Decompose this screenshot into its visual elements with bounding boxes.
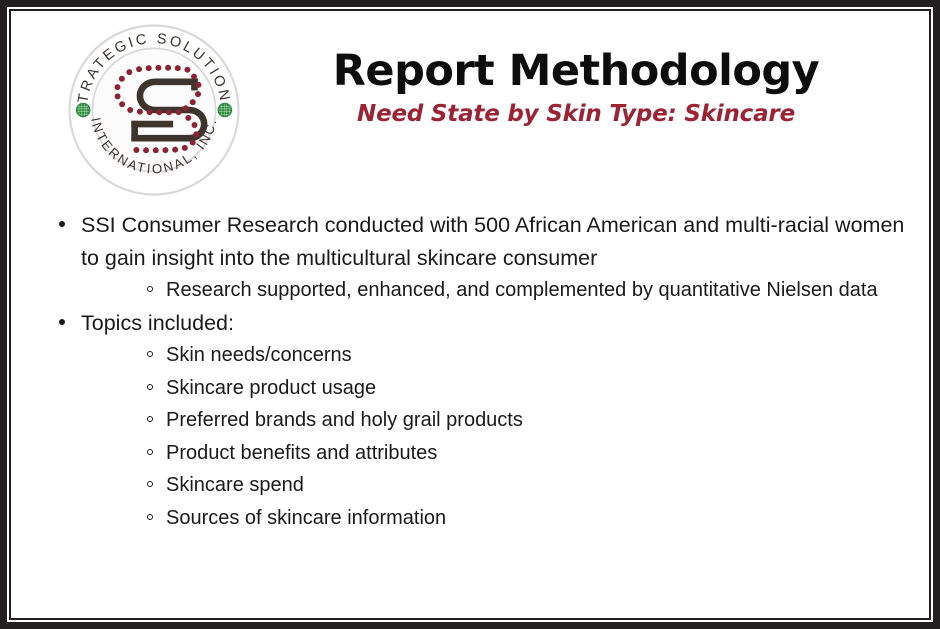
bullet-marker-circle bbox=[147, 351, 153, 357]
bullet-marker-circle bbox=[147, 449, 153, 455]
sub-bullet-item: Research supported, enhanced, and comple… bbox=[123, 274, 909, 307]
bullet-item: SSI Consumer Research conducted with 500… bbox=[37, 209, 909, 307]
slide-header: STRATEGIC SOLUTIONS INTERNATIONAL, INC. bbox=[11, 11, 929, 201]
bullet-marker-circle bbox=[147, 384, 153, 390]
ssi-logo-graphic: STRATEGIC SOLUTIONS INTERNATIONAL, INC. bbox=[66, 22, 242, 198]
bullet-marker-circle bbox=[147, 416, 153, 422]
bullet-marker-circle bbox=[147, 514, 153, 520]
bullet-item: Topics included: Skin needs/concerns Ski… bbox=[37, 307, 909, 535]
page-title: Report Methodology bbox=[261, 49, 891, 94]
slide-canvas: STRATEGIC SOLUTIONS INTERNATIONAL, INC. bbox=[9, 9, 931, 620]
bullet-marker-circle bbox=[147, 286, 153, 292]
title-block: Report Methodology Need State by Skin Ty… bbox=[261, 49, 891, 127]
sub-bullet-text: Sources of skincare information bbox=[166, 502, 909, 535]
bullet-marker-disc bbox=[59, 319, 65, 325]
ssi-logo: STRATEGIC SOLUTIONS INTERNATIONAL, INC. bbox=[66, 22, 242, 198]
sub-bullet-item: Skin needs/concerns bbox=[123, 339, 909, 372]
bullet-text: SSI Consumer Research conducted with 500… bbox=[81, 209, 909, 274]
sub-bullet-text: Skincare product usage bbox=[166, 372, 909, 405]
bullet-text: Topics included: bbox=[81, 307, 909, 340]
bullet-marker-circle bbox=[147, 481, 153, 487]
sub-bullet-text: Preferred brands and holy grail products bbox=[166, 404, 909, 437]
sub-bullet-text: Research supported, enhanced, and comple… bbox=[166, 274, 909, 307]
sub-bullet-item: Skincare product usage bbox=[123, 372, 909, 405]
page-subtitle: Need State by Skin Type: Skincare bbox=[261, 101, 891, 127]
sub-bullet-text: Product benefits and attributes bbox=[166, 437, 909, 470]
bullet-list-level-2: Skin needs/concerns Skincare product usa… bbox=[123, 339, 909, 534]
sub-bullet-item: Skincare spend bbox=[123, 469, 909, 502]
slide-body: SSI Consumer Research conducted with 500… bbox=[37, 209, 909, 534]
sub-bullet-item: Preferred brands and holy grail products bbox=[123, 404, 909, 437]
sub-bullet-text: Skin needs/concerns bbox=[166, 339, 909, 372]
slide-frame-gap: STRATEGIC SOLUTIONS INTERNATIONAL, INC. bbox=[7, 7, 933, 622]
globe-icon-right bbox=[218, 103, 231, 116]
bullet-list-level-2: Research supported, enhanced, and comple… bbox=[123, 274, 909, 307]
slide-frame-outer: STRATEGIC SOLUTIONS INTERNATIONAL, INC. bbox=[0, 0, 940, 629]
globe-icon-left bbox=[76, 103, 89, 116]
sub-bullet-text: Skincare spend bbox=[166, 469, 909, 502]
bullet-list-level-1: SSI Consumer Research conducted with 500… bbox=[37, 209, 909, 534]
bullet-marker-disc bbox=[59, 221, 65, 227]
sub-bullet-item: Sources of skincare information bbox=[123, 502, 909, 535]
sub-bullet-item: Product benefits and attributes bbox=[123, 437, 909, 470]
